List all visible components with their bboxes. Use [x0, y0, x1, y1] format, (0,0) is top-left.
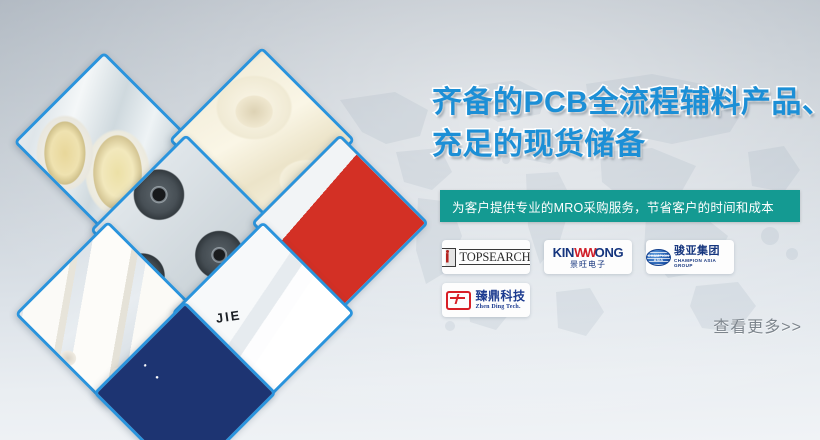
topsearch-wordmark: TOPSEARCH	[459, 249, 530, 265]
champion-asia-globe-icon: CHAMPION ASIA	[646, 249, 671, 266]
topsearch-mark-icon	[442, 248, 456, 267]
partner-logo-row-2: 臻鼎科技 Zhen Ding Tech.	[442, 283, 814, 317]
banner-content: 齐备的PCB全流程辅料产品、 充足的现货储备 为客户提供专业的MRO采购服务，节…	[432, 0, 820, 440]
kinwong-text-a: KIN	[553, 245, 575, 260]
kinwong-chinese-name: 景旺电子	[553, 261, 624, 269]
subtitle-text: 为客户提供专业的MRO采购服务，节省客户的时间和成本	[440, 197, 774, 216]
partner-logo-row-1: TOPSEARCH KINWWONG 景旺电子 CHAMPION ASIA	[442, 240, 814, 274]
kinwong-wordmark: KINWWONG	[553, 246, 624, 259]
headline: 齐备的PCB全流程辅料产品、 充足的现货储备	[432, 82, 820, 166]
zhending-chinese-name: 臻鼎科技	[475, 290, 525, 302]
film-brand-text: JIE	[214, 307, 241, 325]
promo-banner: JIE 齐备的PCB全流程辅料产品、 充足的现货储备 为客户提供专业的MRO采购…	[0, 0, 820, 440]
champion-asia-chinese-name: 骏亚集团	[674, 246, 734, 257]
view-more-link[interactable]: 查看更多>>	[713, 313, 802, 337]
product-tile-collage: JIE	[0, 0, 430, 440]
partner-logo-kinwong[interactable]: KINWWONG 景旺电子	[544, 240, 632, 274]
partner-logo-zhending[interactable]: 臻鼎科技 Zhen Ding Tech.	[442, 283, 530, 317]
subtitle-bar: 为客户提供专业的MRO采购服务，节省客户的时间和成本	[440, 190, 800, 222]
champion-asia-english-name: CHAMPION ASIA GROUP	[674, 259, 734, 268]
zhending-mark-icon	[446, 291, 471, 310]
headline-line-2: 充足的现货储备	[432, 124, 820, 166]
kinwong-text-w: WW	[574, 245, 595, 260]
zhending-english-name: Zhen Ding Tech.	[475, 304, 525, 310]
champion-asia-globe-text: CHAMPION ASIA	[647, 254, 670, 262]
partner-logo-topsearch[interactable]: TOPSEARCH	[442, 240, 530, 274]
partner-logo-champion-asia[interactable]: CHAMPION ASIA 骏亚集团 CHAMPION ASIA GROUP	[646, 240, 734, 274]
headline-line-1: 齐备的PCB全流程辅料产品、	[432, 86, 820, 119]
kinwong-text-b: ONG	[595, 245, 624, 260]
